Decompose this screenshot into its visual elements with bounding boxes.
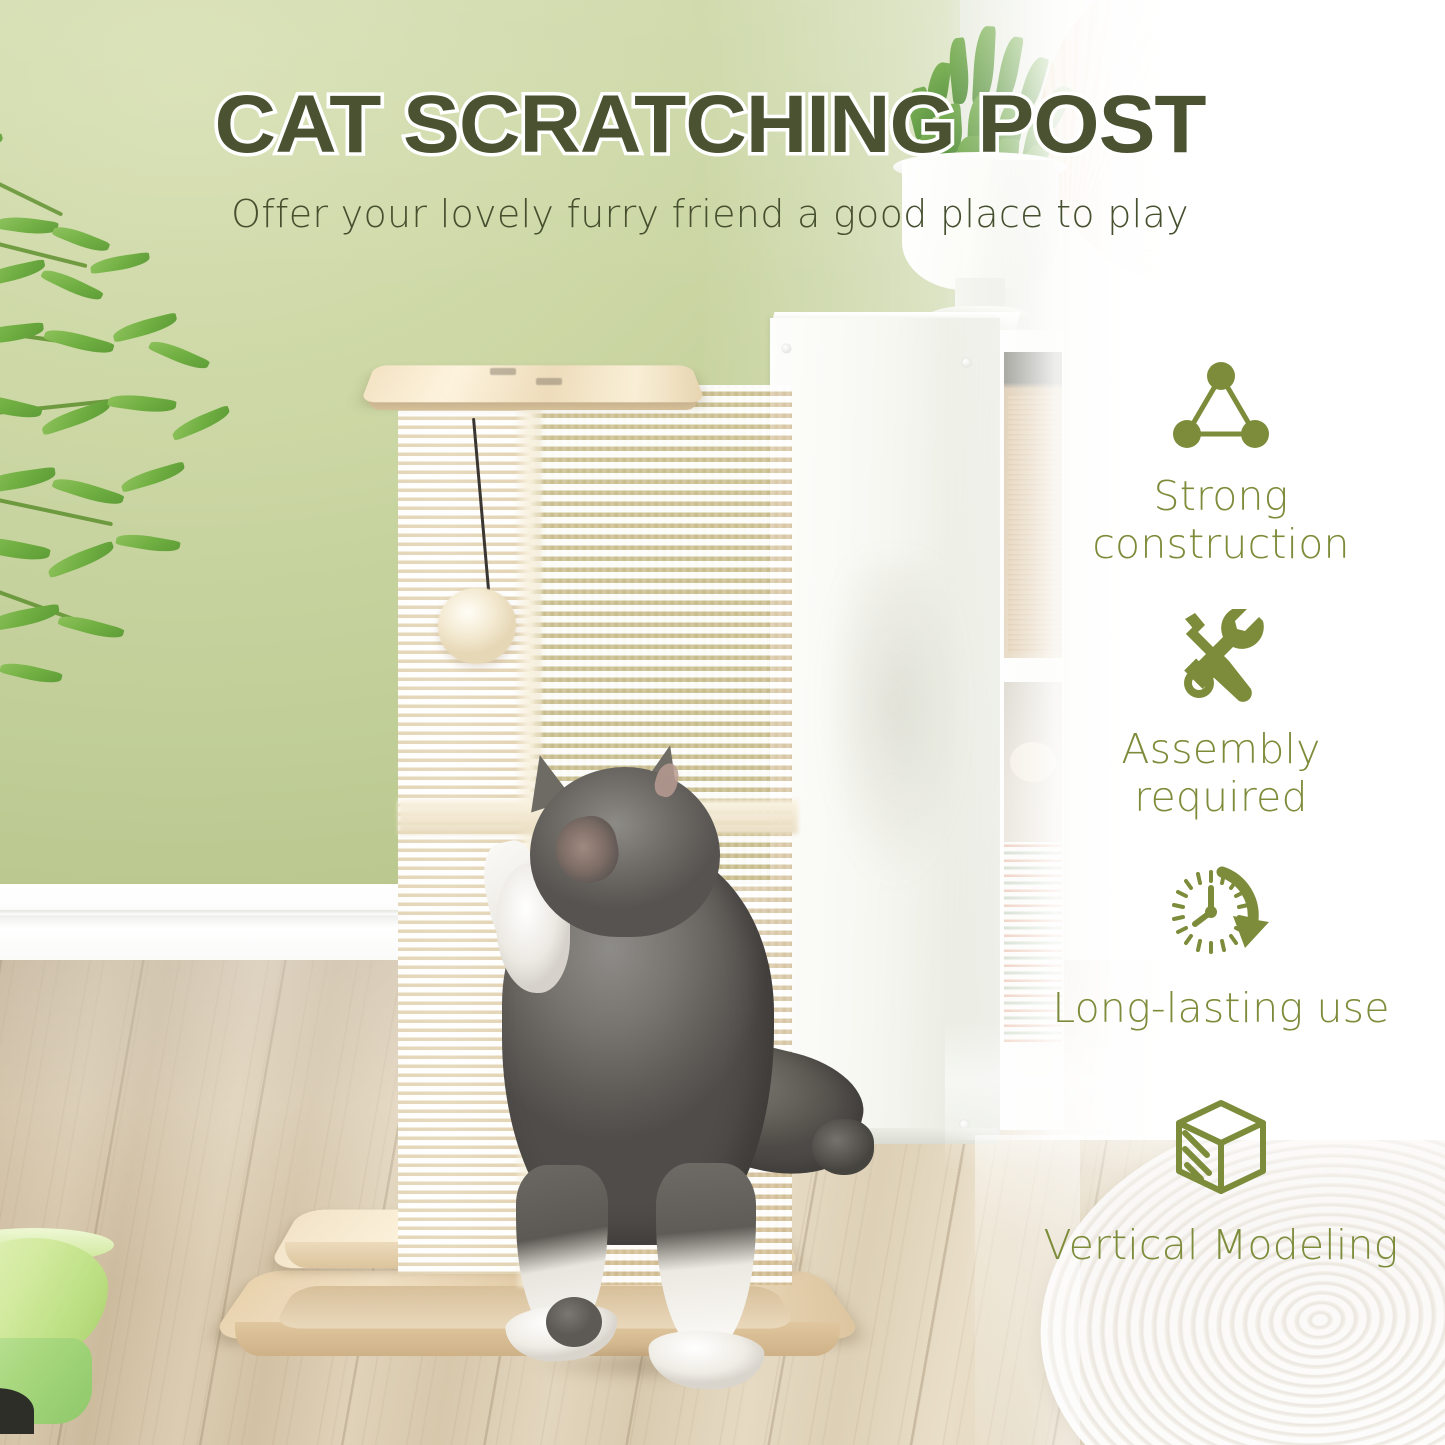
cat-hind-leg-right	[656, 1163, 756, 1353]
cat-paw-marking	[546, 1297, 602, 1347]
top-plate-marking	[490, 368, 516, 375]
clock-arrow-icon	[1165, 864, 1277, 969]
feature-list: Strongconstruction	[1001, 360, 1441, 1270]
triangle-nodes-icon	[1169, 360, 1273, 457]
page-title: CAT SCRATCHING POST	[0, 78, 1445, 172]
feature-label: Long-lasting use	[1052, 985, 1389, 1033]
cube-outline-icon	[1167, 1093, 1275, 1206]
wood-top-plate	[361, 365, 706, 402]
feature-long-lasting-use: Long-lasting use	[1001, 864, 1441, 1033]
top-plate-marking	[536, 378, 562, 385]
feature-strong-construction: Strongconstruction	[1001, 360, 1441, 569]
cat-tail-tip	[812, 1119, 874, 1175]
feature-label: Assemblyrequired	[1121, 726, 1320, 822]
feature-vertical-modeling: Vertical Modeling	[1001, 1093, 1441, 1270]
feature-label: Vertical Modeling	[1044, 1222, 1399, 1270]
pom-pom-toy	[438, 588, 516, 664]
page-subtitle: Offer your lovely furry friend a good pl…	[0, 192, 1420, 236]
feature-label: Strongconstruction	[1092, 473, 1349, 569]
screwdriver-wrench-icon	[1171, 609, 1271, 710]
feature-assembly-required: Assemblyrequired	[1001, 609, 1441, 822]
grey-cat	[460, 745, 880, 1435]
product-marketing-image: CAT SCRATCHING POST Offer your lovely fu…	[0, 0, 1445, 1445]
